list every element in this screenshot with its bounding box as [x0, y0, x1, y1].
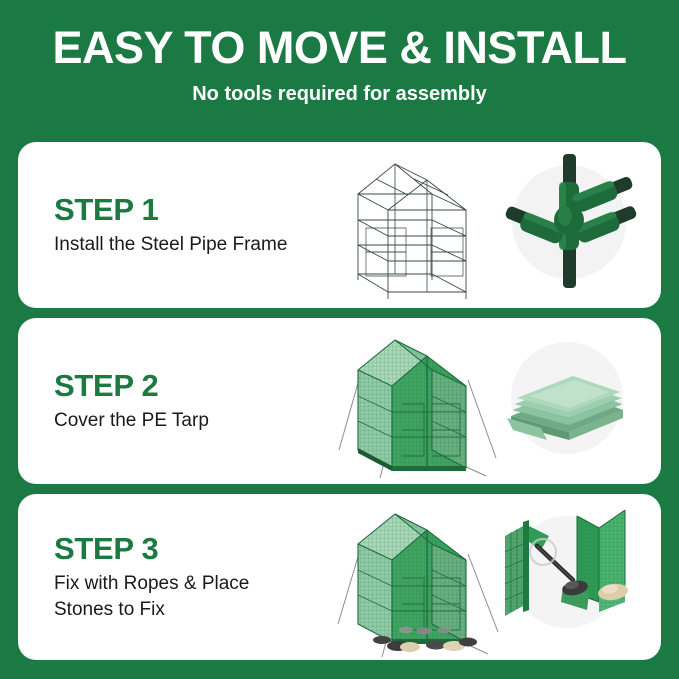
step-1-artwork	[318, 142, 661, 308]
step-2-artwork	[318, 318, 661, 484]
step-2-description: Cover the PE Tarp	[54, 408, 318, 433]
rope-and-stone-detail-icon	[477, 494, 655, 660]
step-2-title: STEP 2	[54, 369, 318, 403]
step-3-title: STEP 3	[54, 532, 318, 566]
folded-tarp-icon	[477, 318, 655, 484]
step-1-text-block: STEP 1 Install the Steel Pipe Frame	[18, 142, 318, 308]
page-subtitle: No tools required for assembly	[192, 83, 487, 106]
page-title: EASY TO MOVE & INSTALL	[52, 24, 626, 71]
step-1-title: STEP 1	[54, 193, 318, 227]
step-2-text-block: STEP 2 Cover the PE Tarp	[18, 318, 318, 484]
step-card-3: STEP 3 Fix with Ropes & Place Stones to …	[18, 494, 661, 660]
step-3-text-block: STEP 3 Fix with Ropes & Place Stones to …	[18, 494, 318, 660]
step-3-artwork	[318, 494, 661, 660]
step-1-description: Install the Steel Pipe Frame	[54, 232, 318, 257]
header-banner: EASY TO MOVE & INSTALL No tools required…	[0, 0, 679, 130]
steps-list: STEP 1 Install the Steel Pipe Frame	[18, 142, 661, 660]
step-3-description: Fix with Ropes & Place Stones to Fix	[54, 571, 318, 621]
step-card-2: STEP 2 Cover the PE Tarp	[18, 318, 661, 484]
pipe-connector-icon	[477, 142, 655, 308]
step-card-1: STEP 1 Install the Steel Pipe Frame	[18, 142, 661, 308]
